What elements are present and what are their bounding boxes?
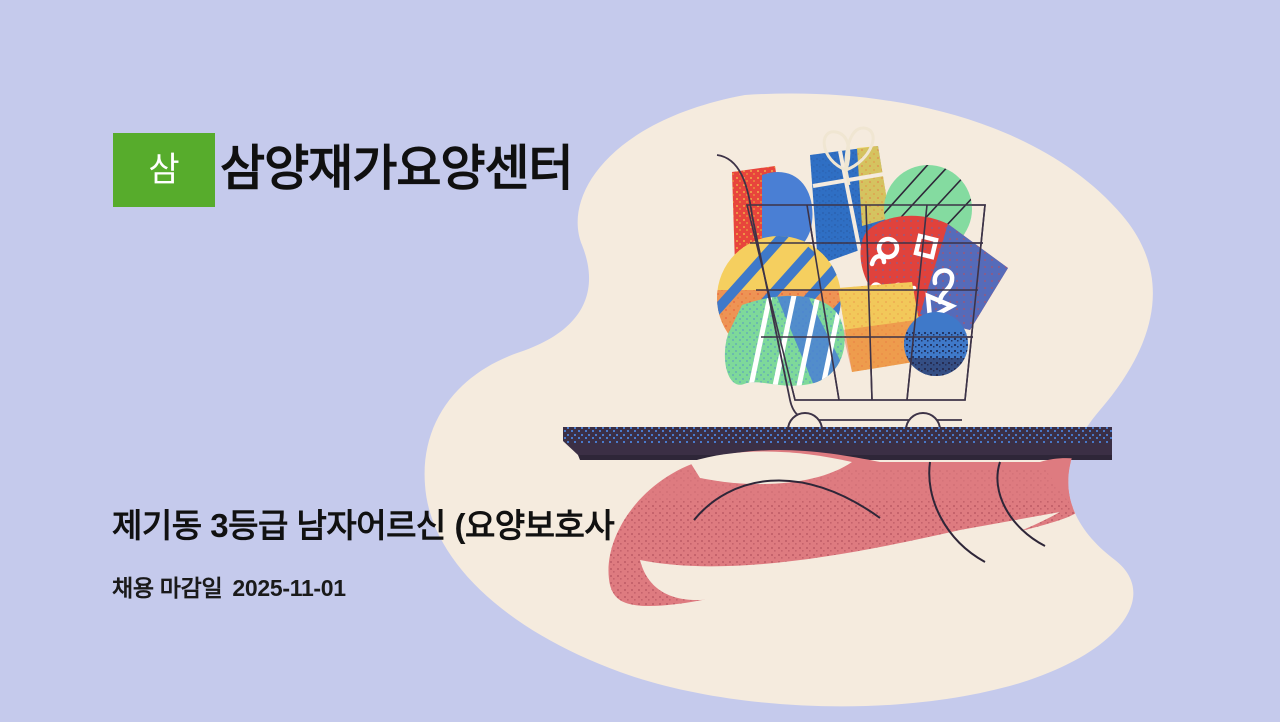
dark-plank-bar: [563, 425, 1123, 460]
deadline-date: 2025-11-01: [232, 575, 345, 601]
company-logo-badge: 삼: [113, 133, 215, 207]
company-logo-badge-text: 삼: [148, 153, 179, 187]
deadline-label: 채용 마감일: [112, 575, 222, 601]
shopping-cart-with-gifts-illustration: [0, 0, 1280, 722]
job-posting-card: 삼 삼양재가요양센터 제기동 3등급 남자어르신 (요양보호사 채용 마감일20…: [0, 0, 1280, 722]
organization-name: 삼양재가요양센터: [220, 131, 573, 207]
job-title: 제기동 3등급 남자어르신 (요양보호사: [112, 504, 614, 548]
application-deadline: 채용 마감일2025-11-01: [112, 572, 346, 604]
